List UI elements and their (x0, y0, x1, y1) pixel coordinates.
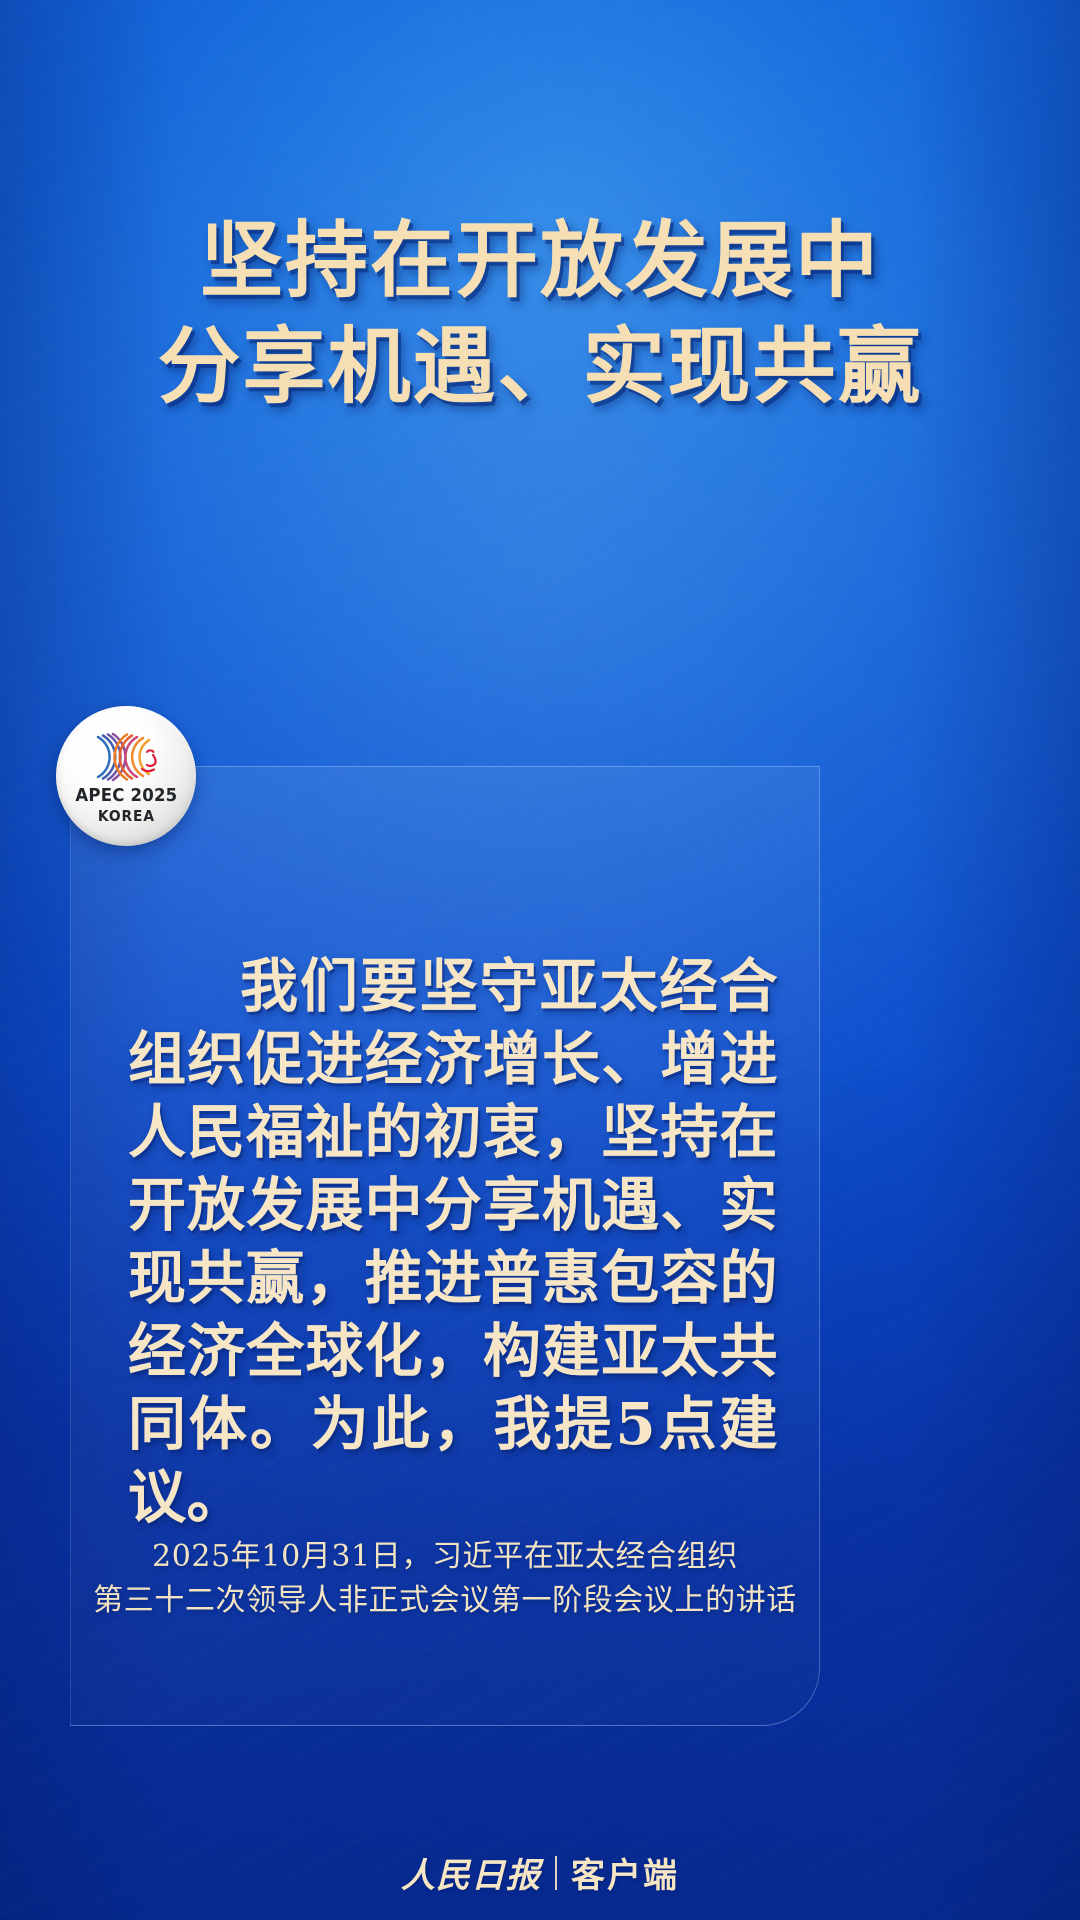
apec-badge-text: APEC 2025 KOREA (71, 787, 182, 824)
quote-attribution: 2025年10月31日，习近平在亚太经合组织 第三十二次领导人非正式会议第一阶段… (70, 1535, 820, 1623)
peoples-daily-masthead: 人民日报 (401, 1848, 541, 1897)
attribution-line-2: 第三十二次领导人非正式会议第一阶段会议上的讲话 (70, 1579, 820, 1623)
apec-badge-name: APEC 2025 (75, 787, 177, 805)
apec-face-arcs-icon (83, 730, 169, 784)
footer-product-label: 客户端 (571, 1848, 679, 1897)
page-title: 坚持在开放发展中 分享机遇、实现共赢 (0, 212, 1080, 416)
footer-brand: 人民日报 客户端 (0, 1848, 1080, 1897)
apec-logo-badge: APEC 2025 KOREA (56, 706, 196, 846)
attribution-line-1: 2025年10月31日，习近平在亚太经合组织 (70, 1535, 820, 1579)
footer-divider (555, 1856, 557, 1890)
quote-text: 我们要坚守亚太经合组织促进经济增长、增进人民福祉的初衷，坚持在开放发展中分享机遇… (128, 950, 778, 1534)
headline-line-1: 坚持在开放发展中 (0, 212, 1080, 310)
apec-badge-country: KOREA (75, 809, 177, 824)
headline-line-2: 分享机遇、实现共赢 (0, 318, 1080, 416)
